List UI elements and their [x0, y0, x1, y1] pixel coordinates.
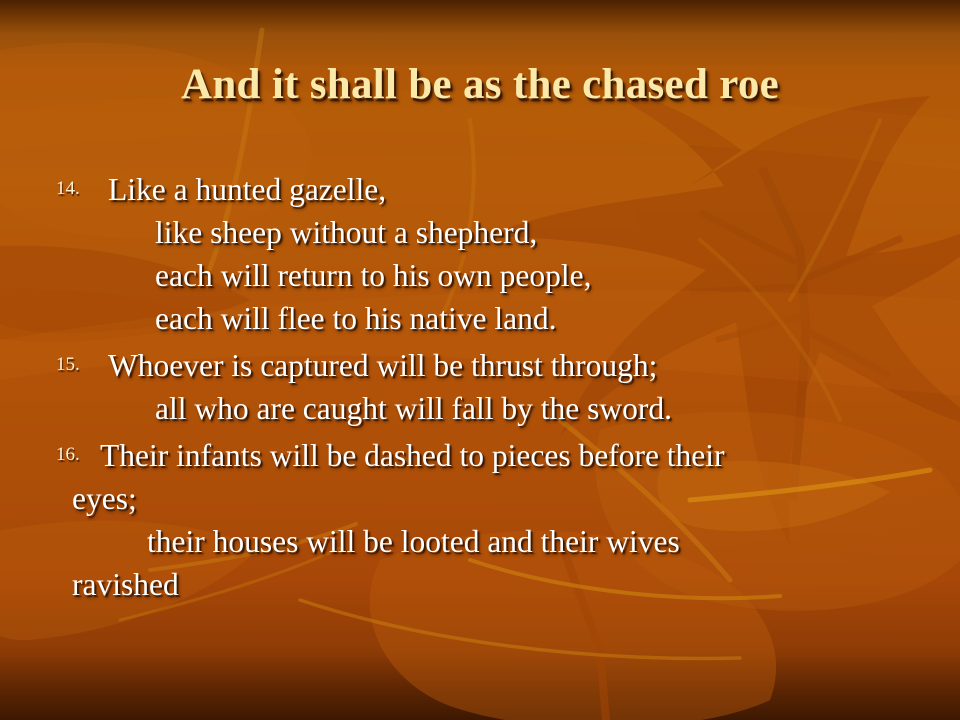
- verse-line: Their infants will be dashed to pieces b…: [100, 434, 960, 477]
- list-item-text: Whoever is captured will be thrust throu…: [108, 344, 960, 430]
- list-item-number: 14.: [56, 178, 96, 200]
- verse-line: eyes;: [72, 477, 960, 520]
- list-item-text: Like a hunted gazelle, like sheep withou…: [108, 168, 960, 340]
- verse-line: their houses will be looted and their wi…: [100, 520, 960, 563]
- verse-line: all who are caught will fall by the swor…: [108, 387, 960, 430]
- verse-line: each will flee to his native land.: [108, 297, 960, 340]
- slide-title: And it shall be as the chased roe: [0, 62, 960, 108]
- list-item-number: 15.: [56, 354, 96, 376]
- list-item: 16. Their infants will be dashed to piec…: [0, 434, 960, 606]
- verse-line: each will return to his own people,: [108, 254, 960, 297]
- list-item: 14. Like a hunted gazelle, like sheep wi…: [0, 168, 960, 340]
- verse-line: like sheep without a shepherd,: [108, 211, 960, 254]
- slide-body-list: 14. Like a hunted gazelle, like sheep wi…: [0, 168, 960, 610]
- list-item: 15. Whoever is captured will be thrust t…: [0, 344, 960, 430]
- slide-canvas: And it shall be as the chased roe 14. Li…: [0, 0, 960, 720]
- verse-line: Whoever is captured will be thrust throu…: [108, 344, 960, 387]
- list-item-number: 16.: [56, 444, 96, 466]
- list-item-text: Their infants will be dashed to pieces b…: [100, 434, 960, 606]
- verse-line: Like a hunted gazelle,: [108, 168, 960, 211]
- verse-line: ravished: [72, 563, 960, 606]
